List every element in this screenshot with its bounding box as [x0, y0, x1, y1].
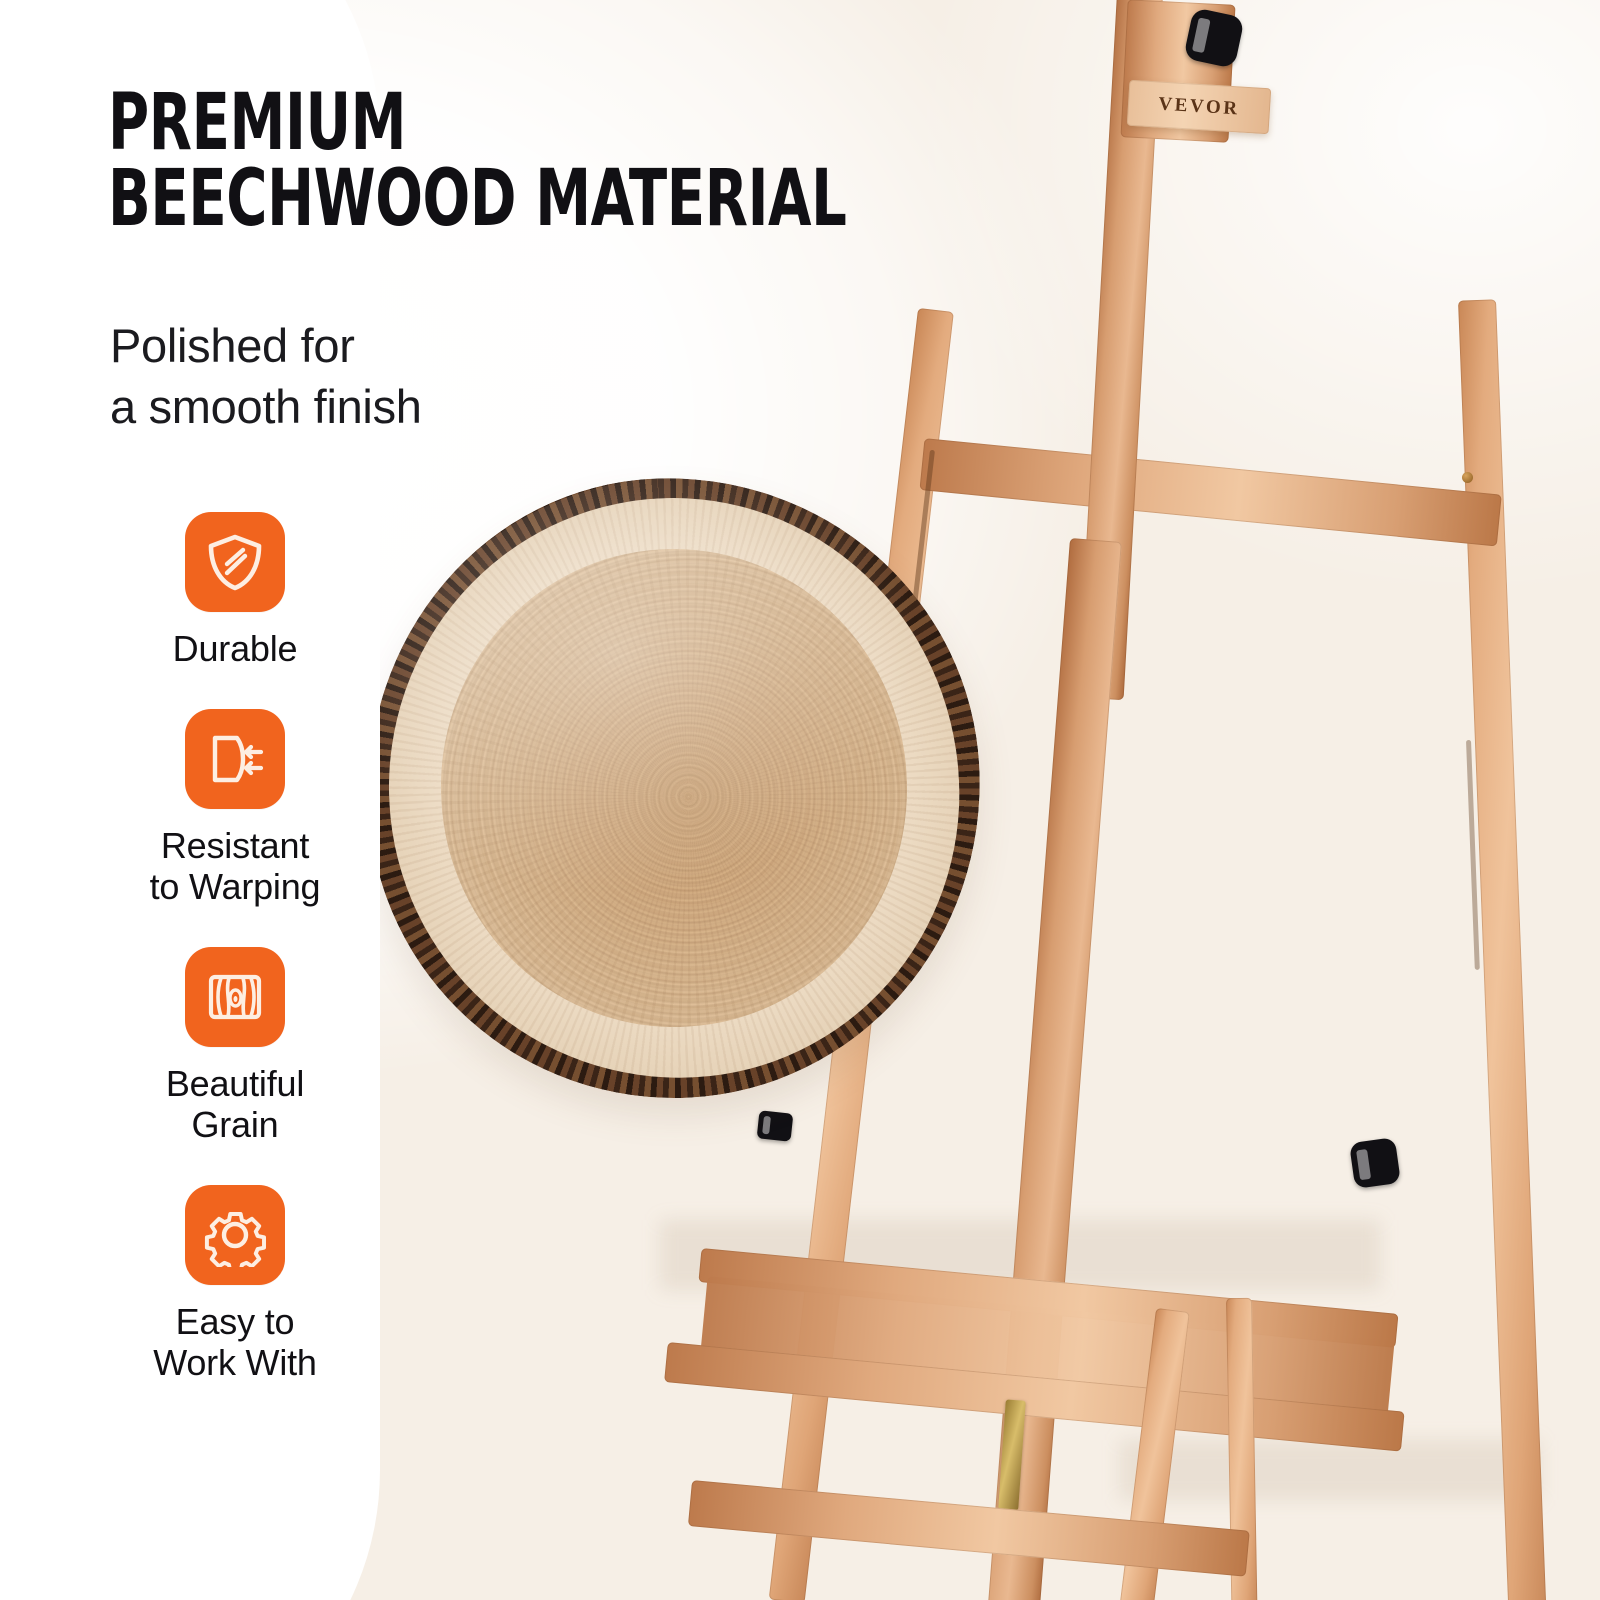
feature-label: Resistant to Warping	[150, 825, 321, 907]
wood-grain-icon-tile	[185, 947, 285, 1047]
gear-icon	[203, 1203, 267, 1267]
feature-label: Durable	[173, 628, 298, 669]
product-marketing-image: VEVOR PREMIUM BEECHWOOD MATERIAL	[0, 0, 1600, 1600]
gear-icon-tile	[185, 1185, 285, 1285]
feature-item-beautiful-grain: Beautiful Grain	[120, 947, 350, 1145]
shield-icon-tile	[185, 512, 285, 612]
brand-text: VEVOR	[1158, 94, 1240, 121]
subheading-line-2: a smooth finish	[110, 377, 730, 438]
feature-item-easy-to-work-with: Easy to Work With	[120, 1185, 350, 1383]
easel-upper-crossbar	[919, 438, 1501, 546]
headline-line-2: BEECHWOOD MATERIAL	[108, 162, 828, 238]
vevor-brand-label: VEVOR	[1127, 80, 1272, 135]
warp-resistant-icon-tile	[185, 709, 285, 809]
canvas-stopper[interactable]	[757, 1110, 794, 1141]
subheading: Polished for a smooth finish	[110, 316, 730, 437]
top-adjustment-knob[interactable]	[1183, 7, 1245, 69]
wood-slice-sample	[352, 462, 996, 1113]
wood-grain-icon	[203, 965, 267, 1029]
feature-label: Beautiful Grain	[166, 1063, 304, 1145]
crossbar-screw	[1462, 472, 1473, 483]
headline-line-1: PREMIUM	[108, 86, 828, 162]
feature-label: Easy to Work With	[153, 1301, 317, 1383]
page-title: PREMIUM BEECHWOOD MATERIAL	[108, 86, 1008, 237]
feature-item-resistant-to-warping: Resistant to Warping	[120, 709, 350, 907]
warp-resistant-icon	[203, 727, 267, 791]
wood-slice-body	[352, 462, 996, 1113]
feature-item-durable: Durable	[120, 512, 350, 669]
side-adjustment-knob[interactable]	[1349, 1137, 1401, 1189]
shield-icon	[203, 530, 267, 594]
wood-slice-highlight	[352, 462, 996, 1113]
subheading-line-1: Polished for	[110, 316, 730, 377]
feature-list: Durable Resistant to Warping	[120, 512, 350, 1423]
easel-shadow-lower	[1120, 1440, 1540, 1500]
